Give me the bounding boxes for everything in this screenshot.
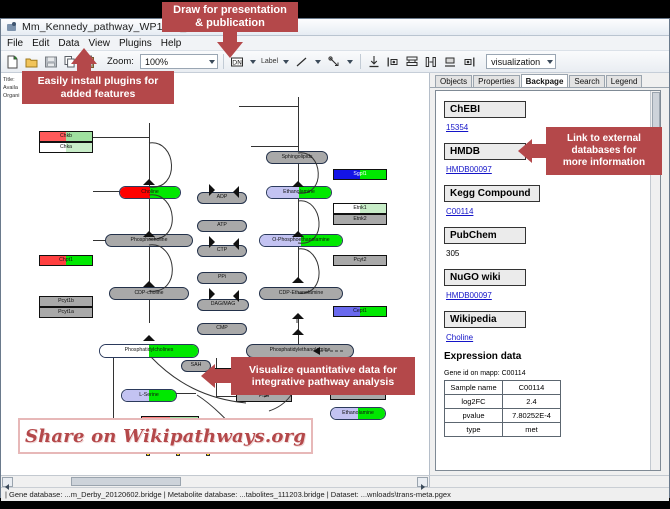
menu-item-plugins[interactable]: Plugins [119, 38, 152, 49]
chevron-down-icon[interactable] [315, 60, 321, 64]
align-left-icon[interactable] [385, 54, 401, 70]
scroll-right-icon[interactable] [417, 477, 428, 487]
cell-key: Sample name [445, 381, 503, 395]
chevron-down-icon[interactable] [283, 60, 289, 64]
side-tabs: Objects Properties Backpage Search Legen… [430, 73, 669, 88]
table-row: type met [445, 423, 561, 437]
callout-share: Share on Wikipathways.org [18, 418, 313, 454]
chevron-down-icon [209, 60, 215, 64]
cell-value: C00114 [503, 381, 561, 395]
menu-item-view[interactable]: View [88, 38, 110, 49]
tab-properties[interactable]: Properties [473, 75, 519, 87]
cell-value: met [503, 423, 561, 437]
chevron-down-icon[interactable] [347, 60, 353, 64]
callout-visualize-line2: integrative pathway analysis [249, 376, 397, 388]
scroll-left-icon[interactable] [2, 477, 13, 487]
cell-key: log2FC [445, 395, 503, 409]
zoom-value: 100% [145, 57, 168, 67]
tab-backpage[interactable]: Backpage [521, 74, 569, 87]
line-icon[interactable] [294, 54, 310, 70]
callout-plugins-line2: added features [38, 88, 159, 100]
label-dropdown[interactable]: Label [261, 58, 278, 65]
callout-link-line3: more information [563, 157, 645, 169]
visualization-combo[interactable]: visualization [486, 54, 556, 69]
db-link-wikipedia[interactable]: Choline [446, 333, 660, 342]
app-icon [6, 22, 17, 33]
db-header-kegg: Kegg Compound [444, 185, 540, 202]
callout-link-line1: Link to external [563, 133, 645, 145]
callout-draw-line1: Draw for presentation [173, 4, 287, 17]
callout-visualize-arrow-icon [201, 364, 215, 388]
visualization-value: visualization [491, 57, 540, 67]
pathway-canvas[interactable]: Title: Availa Organi [1, 73, 430, 475]
align-center-icon[interactable] [442, 54, 458, 70]
db-header-chebi: ChEBI [444, 101, 526, 118]
db-link-kegg[interactable]: C00114 [446, 207, 660, 216]
cell-key: pvalue [445, 409, 503, 423]
menu-item-edit[interactable]: Edit [32, 38, 49, 49]
svg-text:DN: DN [232, 58, 242, 66]
db-value-pubchem: 305 [446, 249, 660, 258]
save-disk-icon[interactable] [43, 54, 59, 70]
expression-data-heading: Expression data [444, 351, 660, 362]
distribute-columns-icon[interactable] [423, 54, 439, 70]
canvas-hscrollbar[interactable] [1, 476, 430, 487]
db-link-nugo[interactable]: HMDB00097 [446, 291, 660, 300]
tab-legend[interactable]: Legend [606, 75, 643, 87]
callout-link-line2: databases for [563, 145, 645, 157]
table-row: Sample name C00114 [445, 381, 561, 395]
status-bar: | Gene database: ...m_Derby_20120602.bri… [1, 487, 669, 501]
menu-item-file[interactable]: File [7, 38, 23, 49]
table-row: pvalue 7.80252E-4 [445, 409, 561, 423]
new-document-icon[interactable] [5, 54, 21, 70]
callout-plugins-line1: Easily install plugins for [38, 75, 159, 87]
share-text: Share on Wikipathways.org [25, 426, 306, 447]
menu-bar: File Edit Data View Plugins Help [1, 36, 669, 51]
callout-link-arrow-icon [518, 139, 532, 163]
cell-value: 7.80252E-4 [503, 409, 561, 423]
gene-id-label: Gene id on mapp: C00114 [444, 370, 660, 377]
callout-visualize-line1: Visualize quantitative data for [249, 364, 397, 376]
chevron-down-icon [547, 60, 553, 64]
callout-draw-line2: & publication [173, 17, 287, 30]
open-folder-icon[interactable] [24, 54, 40, 70]
hscrollbar-thumb[interactable] [71, 477, 181, 486]
status-text: | Gene database: ...m_Derby_20120602.bri… [5, 490, 451, 499]
toolbar: Zoom: 100% DN Label [1, 51, 669, 73]
menu-item-help[interactable]: Help [161, 38, 182, 49]
zoom-label: Zoom: [107, 56, 134, 67]
menu-item-data[interactable]: Data [58, 38, 79, 49]
db-header-wikipedia: Wikipedia [444, 311, 526, 328]
tab-search[interactable]: Search [569, 75, 604, 87]
callout-link: Link to external databases for more info… [546, 127, 662, 175]
db-header-hmdb: HMDB [444, 143, 526, 160]
anchor-icon[interactable] [326, 54, 342, 70]
table-row: log2FC 2.4 [445, 395, 561, 409]
scrollbar-filler [430, 476, 669, 487]
db-header-pubchem: PubChem [444, 227, 526, 244]
align-bottom-icon[interactable] [366, 54, 382, 70]
zoom-combo[interactable]: 100% [140, 54, 218, 69]
db-header-nugo: NuGO wiki [444, 269, 526, 286]
callout-draw: Draw for presentation & publication [162, 2, 298, 32]
chevron-down-icon[interactable] [250, 60, 256, 64]
stack-rows-icon[interactable] [404, 54, 420, 70]
cell-key: type [445, 423, 503, 437]
align-right-icon[interactable] [461, 54, 477, 70]
title-bar: Mm_Kennedy_pathway_WP1771_45176.gpml [1, 19, 669, 36]
toolbar-separator [360, 54, 361, 69]
callout-visualize: Visualize quantitative data for integrat… [231, 357, 415, 395]
horizontal-scrollbar-row [1, 475, 669, 487]
callout-draw-arrow-icon [217, 42, 243, 58]
callout-plugins-arrow-icon [71, 48, 97, 64]
cell-value: 2.4 [503, 395, 561, 409]
tab-objects[interactable]: Objects [435, 75, 472, 87]
expression-table: Sample name C00114 log2FC 2.4 pvalue 7.8… [444, 380, 561, 437]
callout-plugins: Easily install plugins for added feature… [22, 71, 174, 104]
